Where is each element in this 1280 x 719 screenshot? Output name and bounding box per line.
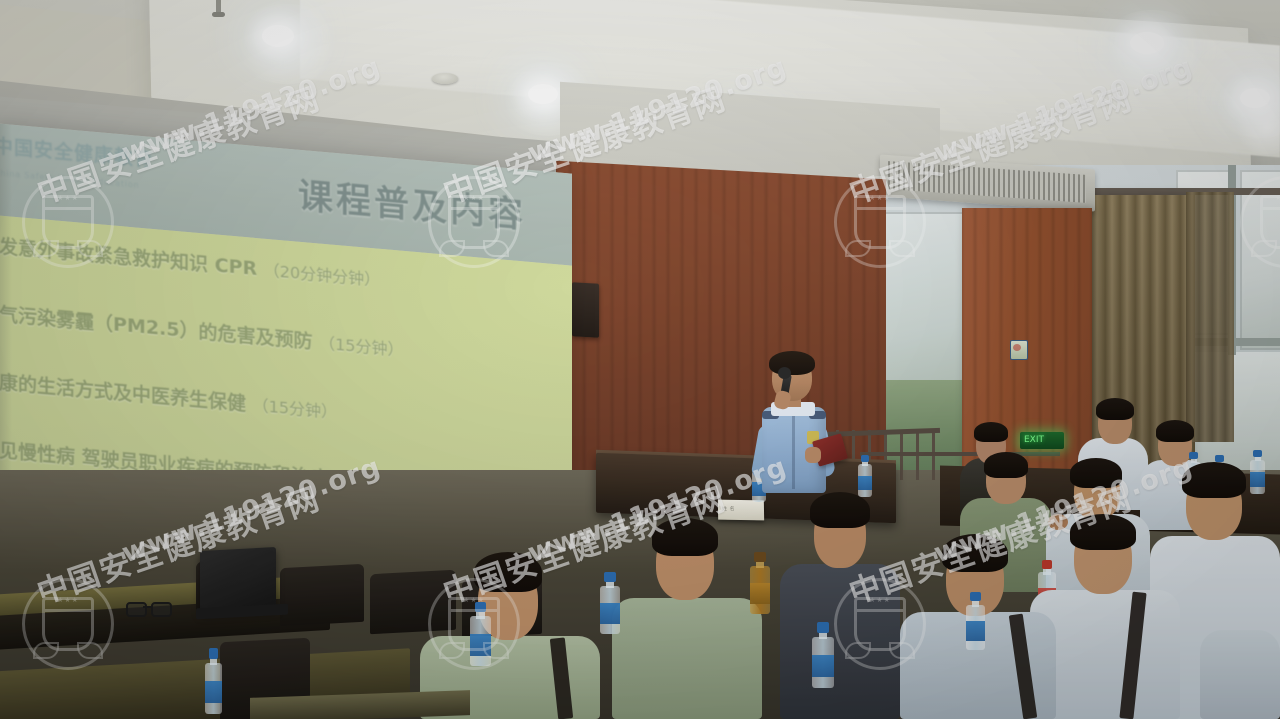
photo-scene: 中国安全健康教育 China Safety Health Education 课… [0, 0, 1280, 719]
photo-color-grade [0, 0, 1280, 719]
